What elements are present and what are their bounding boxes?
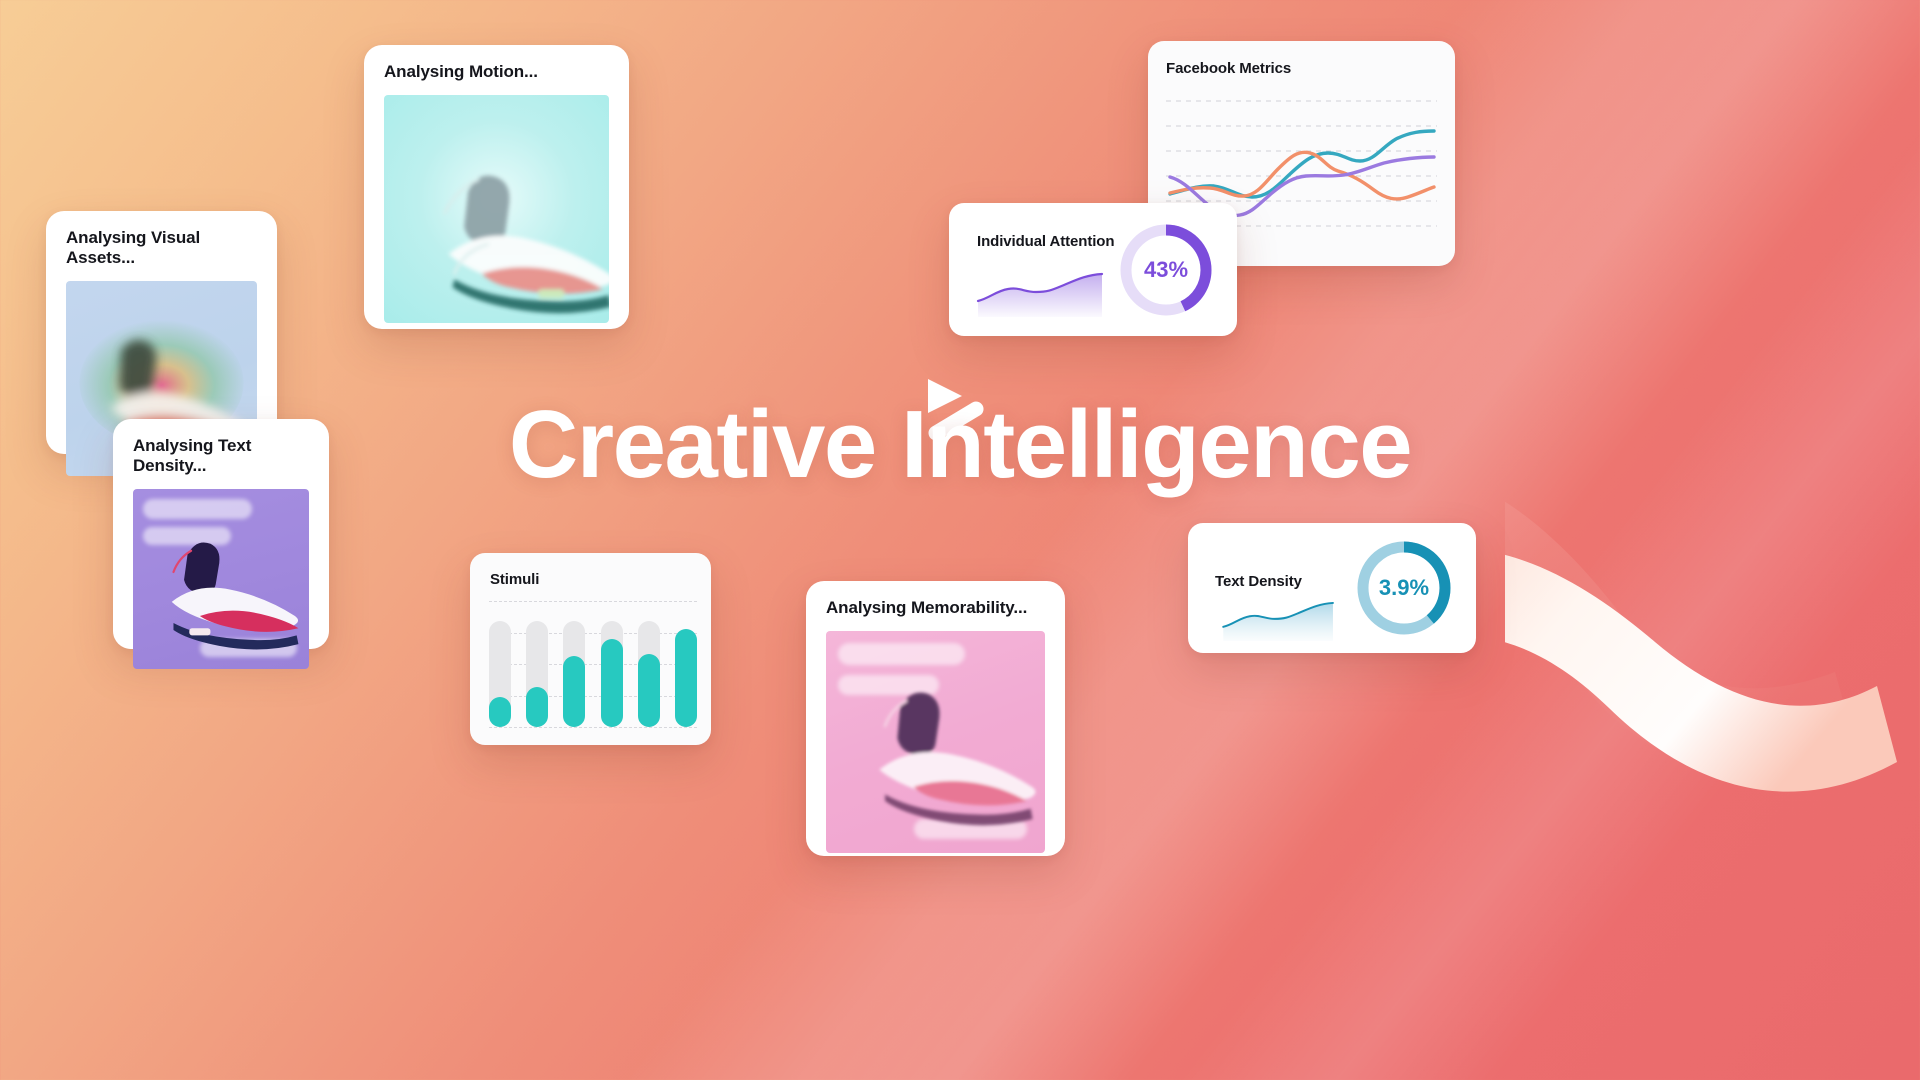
ribbon-swoosh (1505, 500, 1920, 880)
card-stimuli[interactable]: Stimuli (470, 553, 711, 745)
text-density-donut-chart: 3.9% (1352, 536, 1456, 640)
bar-fill (526, 687, 548, 727)
card-text-density[interactable]: Text Density 3.9% (1188, 523, 1476, 653)
bar-fill (601, 639, 623, 727)
text-density-value: 3.9% (1352, 536, 1456, 640)
gridline (489, 727, 697, 728)
attention-sparkline-area-chart (976, 265, 1106, 317)
card-title: Stimuli (490, 571, 539, 588)
card-title: Analysing Motion... (384, 62, 609, 82)
stimulus-thumbnail-text-density (133, 489, 309, 669)
card-title: Facebook Metrics (1166, 60, 1291, 77)
bar-fill (489, 697, 511, 727)
bar-fill (563, 656, 585, 727)
bar-item (601, 601, 623, 727)
bar-item (675, 601, 697, 727)
page-title: Creative Intelligence (0, 390, 1920, 500)
bar-item (489, 601, 511, 727)
stimuli-bar-chart (489, 601, 697, 727)
stimulus-thumbnail-memorability (826, 631, 1045, 853)
card-analysing-memorability[interactable]: Analysing Memorability... (806, 581, 1065, 856)
bar-item (563, 601, 585, 727)
card-title: Text Density (1215, 573, 1302, 590)
card-title: Analysing Visual Assets... (66, 228, 257, 268)
attention-value: 43% (1115, 219, 1217, 321)
stimulus-thumbnail-motion (384, 95, 609, 323)
bar-fill (638, 654, 660, 727)
attention-donut-chart: 43% (1115, 219, 1217, 321)
bar-item (638, 601, 660, 727)
card-title: Analysing Memorability... (826, 598, 1045, 618)
card-title: Individual Attention (977, 233, 1114, 250)
text-density-sparkline-area-chart (1214, 595, 1344, 641)
card-analysing-motion[interactable]: Analysing Motion... (364, 45, 629, 329)
card-individual-attention[interactable]: Individual Attention 43% (949, 203, 1237, 336)
bar-fill (675, 629, 697, 727)
bar-item (526, 601, 548, 727)
